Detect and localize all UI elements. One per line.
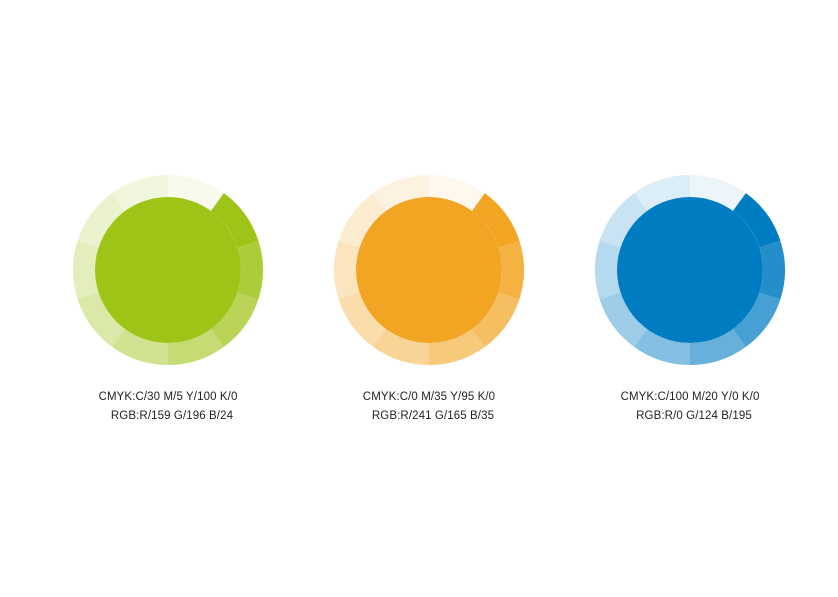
cmyk-value: CMYK:C/0 M/35 Y/95 K/0	[299, 388, 559, 407]
rgb-value: RGB:R/241 G/165 B/35	[299, 407, 559, 426]
color-palette-board: CMYK:C/30 M/5 Y/100 K/0RGB:R/159 G/196 B…	[0, 0, 838, 597]
ring-segment	[334, 241, 360, 300]
cmyk-value: CMYK:C/100 M/20 Y/0 K/0	[560, 388, 820, 407]
color-spec-orange: CMYK:C/0 M/35 Y/95 K/0RGB:R/241 G/165 B/…	[299, 388, 559, 426]
solid-inner-disc	[617, 197, 763, 343]
swatch-orange: CMYK:C/0 M/35 Y/95 K/0RGB:R/241 G/165 B/…	[299, 0, 559, 597]
color-wheel-graphic	[73, 175, 263, 365]
solid-inner-disc	[95, 197, 241, 343]
ring-segment	[237, 241, 263, 300]
swatch-blue: CMYK:C/100 M/20 Y/0 K/0RGB:R/0 G/124 B/1…	[560, 0, 820, 597]
ring-segment	[595, 241, 621, 300]
ring-segment	[73, 241, 99, 300]
rgb-value: RGB:R/0 G/124 B/195	[560, 407, 820, 426]
solid-inner-disc	[356, 197, 502, 343]
color-spec-green: CMYK:C/30 M/5 Y/100 K/0RGB:R/159 G/196 B…	[38, 388, 298, 426]
color-wheel-blue	[595, 175, 785, 365]
color-wheel-green	[73, 175, 263, 365]
rgb-value: RGB:R/159 G/196 B/24	[38, 407, 298, 426]
color-wheel-orange	[334, 175, 524, 365]
ring-segment	[759, 241, 785, 300]
ring-segment	[498, 241, 524, 300]
swatch-green: CMYK:C/30 M/5 Y/100 K/0RGB:R/159 G/196 B…	[38, 0, 298, 597]
color-wheel-graphic	[334, 175, 524, 365]
cmyk-value: CMYK:C/30 M/5 Y/100 K/0	[38, 388, 298, 407]
color-spec-blue: CMYK:C/100 M/20 Y/0 K/0RGB:R/0 G/124 B/1…	[560, 388, 820, 426]
color-wheel-graphic	[595, 175, 785, 365]
